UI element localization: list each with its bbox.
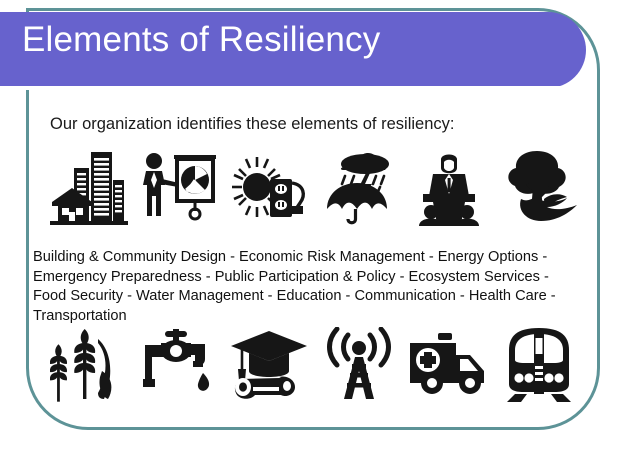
title-underline [0, 86, 562, 90]
icon-row-2 [44, 324, 584, 404]
faucet-water-drop-icon [134, 324, 224, 404]
podium-speaker-audience-icon [404, 148, 494, 228]
presenter-pie-chart-icon [134, 148, 224, 228]
ambulance-icon [404, 324, 494, 404]
icon-row-1 [44, 148, 584, 228]
page-title: Elements of Resiliency [22, 19, 380, 61]
broadcast-tower-icon [314, 324, 404, 404]
elements-list-text: Building & Community Design - Economic R… [33, 248, 581, 326]
wheat-grain-icon [44, 324, 134, 404]
umbrella-storm-icon [314, 148, 404, 228]
buildings-house-icon [44, 148, 134, 228]
tree-hand-icon [494, 148, 584, 228]
sun-power-outlet-icon [224, 148, 314, 228]
presentation-slide: Elements of Resiliency Our organization … [0, 0, 632, 474]
graduation-cap-diploma-icon [224, 324, 314, 404]
train-subway-icon [494, 324, 584, 404]
lead-text: Our organization identifies these elemen… [50, 112, 454, 136]
